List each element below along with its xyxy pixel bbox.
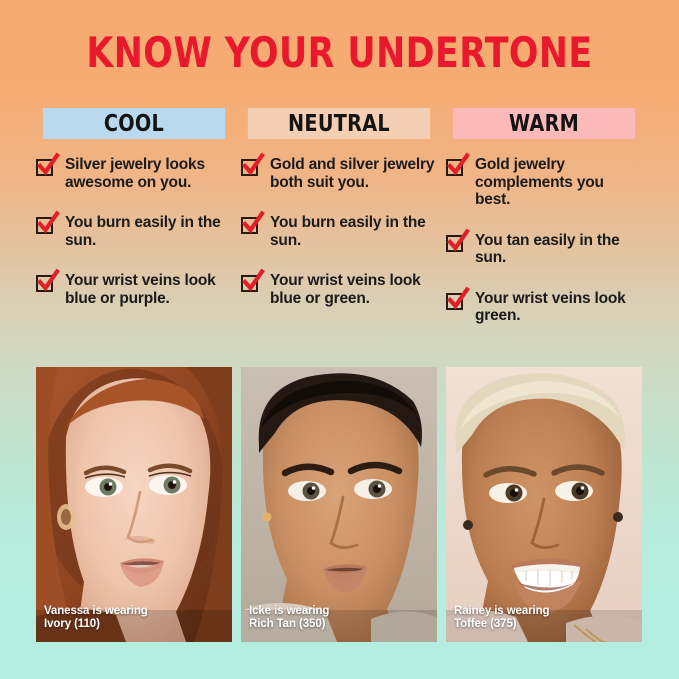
- checklist-item[interactable]: Silver jewelry looks awesome on you.: [36, 156, 232, 191]
- model-photo-neutral: Icke is wearing Rich Tan (350): [241, 367, 437, 642]
- checkmark-icon: [241, 269, 265, 295]
- caption-line-2: Toffee (375): [454, 618, 549, 631]
- column-header-cool: COOL: [43, 108, 225, 139]
- checkbox-icon[interactable]: [446, 233, 467, 254]
- checklist-item[interactable]: Your wrist veins look blue or purple.: [36, 272, 232, 307]
- checkbox-icon[interactable]: [241, 215, 262, 236]
- checklist-item[interactable]: You burn easily in the sun.: [36, 214, 232, 249]
- undertone-infographic: KNOW YOUR UNDERTONE COOL Silver jewelry …: [0, 0, 679, 679]
- checkmark-icon: [446, 287, 470, 313]
- model-photo-warm: Rainey is wearing Toffee (375): [446, 367, 642, 642]
- checkbox-icon[interactable]: [446, 291, 467, 312]
- checkmark-icon: [446, 153, 470, 179]
- column-header-neutral: NEUTRAL: [248, 108, 430, 139]
- checkbox-icon[interactable]: [36, 215, 57, 236]
- checklist-item[interactable]: You tan easily in the sun.: [446, 232, 642, 267]
- checklist-item-label: Your wrist veins look blue or green.: [270, 272, 437, 307]
- column-neutral: NEUTRAL Gold and silver jewelry both sui…: [241, 108, 437, 325]
- checkbox-icon[interactable]: [241, 273, 262, 294]
- photo-caption: Rainey is wearing Toffee (375): [454, 605, 549, 631]
- checklist-item-label: Your wrist veins look blue or purple.: [65, 272, 232, 307]
- checklist-item[interactable]: You burn easily in the sun.: [241, 214, 437, 249]
- checklist-item-label: Your wrist veins look green.: [475, 290, 642, 325]
- undertone-columns: COOL Silver jewelry looks awesome on you…: [36, 108, 643, 325]
- checklist-neutral: Gold and silver jewelry both suit you. Y…: [241, 156, 437, 307]
- page-title: KNOW YOUR UNDERTONE: [27, 28, 652, 77]
- checklist-item-label: You burn easily in the sun.: [65, 214, 232, 249]
- checkbox-icon[interactable]: [446, 157, 467, 178]
- checklist-item[interactable]: Your wrist veins look blue or green.: [241, 272, 437, 307]
- column-header-warm: WARM: [453, 108, 635, 139]
- caption-line-2: Rich Tan (350): [249, 618, 329, 631]
- checkmark-icon: [241, 211, 265, 237]
- checklist-item[interactable]: Your wrist veins look green.: [446, 290, 642, 325]
- checkmark-icon: [36, 211, 60, 237]
- checkmark-icon: [241, 153, 265, 179]
- checklist-item-label: You burn easily in the sun.: [270, 214, 437, 249]
- caption-line-2: Ivory (110): [44, 618, 148, 631]
- portrait-icke: [241, 367, 437, 642]
- checkbox-icon[interactable]: [36, 273, 57, 294]
- photo-caption: Icke is wearing Rich Tan (350): [249, 605, 329, 631]
- checklist-cool: Silver jewelry looks awesome on you. You…: [36, 156, 232, 307]
- portrait-rainey: [446, 367, 642, 642]
- caption-line-1: Rainey is wearing: [454, 605, 549, 618]
- checklist-warm: Gold jewelry complements you best. You t…: [446, 156, 642, 325]
- portrait-vanessa: [36, 367, 232, 642]
- checkmark-icon: [446, 229, 470, 255]
- checklist-item-label: You tan easily in the sun.: [475, 232, 642, 267]
- checkmark-icon: [36, 269, 60, 295]
- checklist-item[interactable]: Gold jewelry complements you best.: [446, 156, 642, 209]
- caption-line-1: Vanessa is wearing: [44, 605, 148, 618]
- checkbox-icon[interactable]: [36, 157, 57, 178]
- caption-line-1: Icke is wearing: [249, 605, 329, 618]
- model-photo-cool: Vanessa is wearing Ivory (110): [36, 367, 232, 642]
- checklist-item-label: Silver jewelry looks awesome on you.: [65, 156, 232, 191]
- column-cool: COOL Silver jewelry looks awesome on you…: [36, 108, 232, 325]
- checklist-item[interactable]: Gold and silver jewelry both suit you.: [241, 156, 437, 191]
- column-warm: WARM Gold jewelry complements you best. …: [446, 108, 642, 325]
- checkmark-icon: [36, 153, 60, 179]
- photo-caption: Vanessa is wearing Ivory (110): [44, 605, 148, 631]
- checkbox-icon[interactable]: [241, 157, 262, 178]
- checklist-item-label: Gold and silver jewelry both suit you.: [270, 156, 437, 191]
- model-photo-strip: Vanessa is wearing Ivory (110): [36, 367, 643, 642]
- checklist-item-label: Gold jewelry complements you best.: [475, 156, 642, 209]
